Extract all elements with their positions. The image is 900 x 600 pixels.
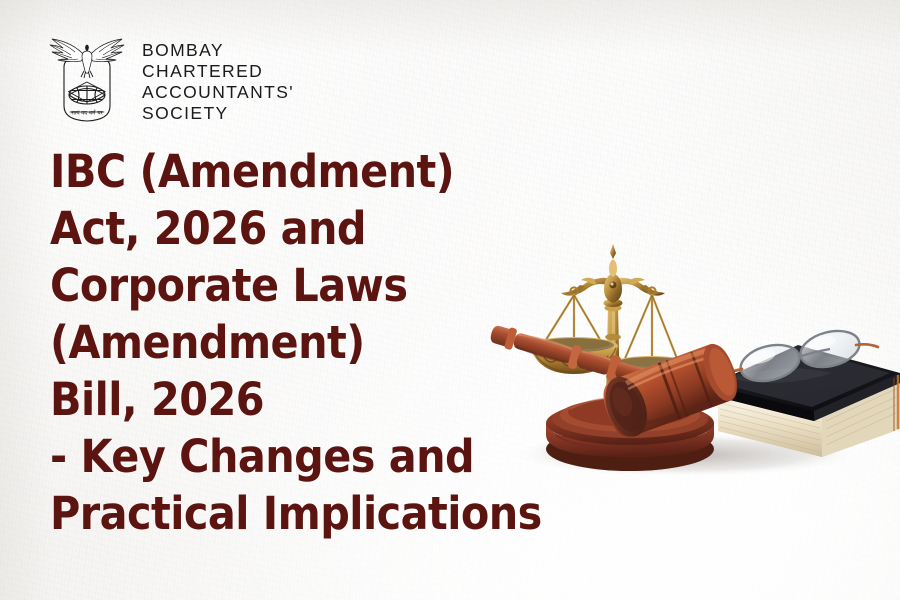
banner-image: सत्यं वद धर्मं चर <box>0 0 900 600</box>
logo-word-line-1: BOMBAY <box>142 40 294 61</box>
sanskrit-motto: सत्यं वद धर्मं चर <box>71 110 103 117</box>
logo-word-line-4: SOCIETY <box>142 103 294 124</box>
legal-still-life-illustration <box>470 185 900 475</box>
bcas-logo-wordmark: BOMBAY CHARTERED ACCOUNTANTS' SOCIETY <box>142 40 294 124</box>
logo-word-line-2: CHARTERED <box>142 61 294 82</box>
bcas-logo: सत्यं वद धर्मं चर <box>44 34 294 134</box>
logo-word-line-3: ACCOUNTANTS' <box>142 82 294 103</box>
headline-line-7: Practical Implications <box>50 485 565 542</box>
bcas-eagle-globe-emblem-icon: सत्यं वद धर्मं चर <box>44 34 130 134</box>
